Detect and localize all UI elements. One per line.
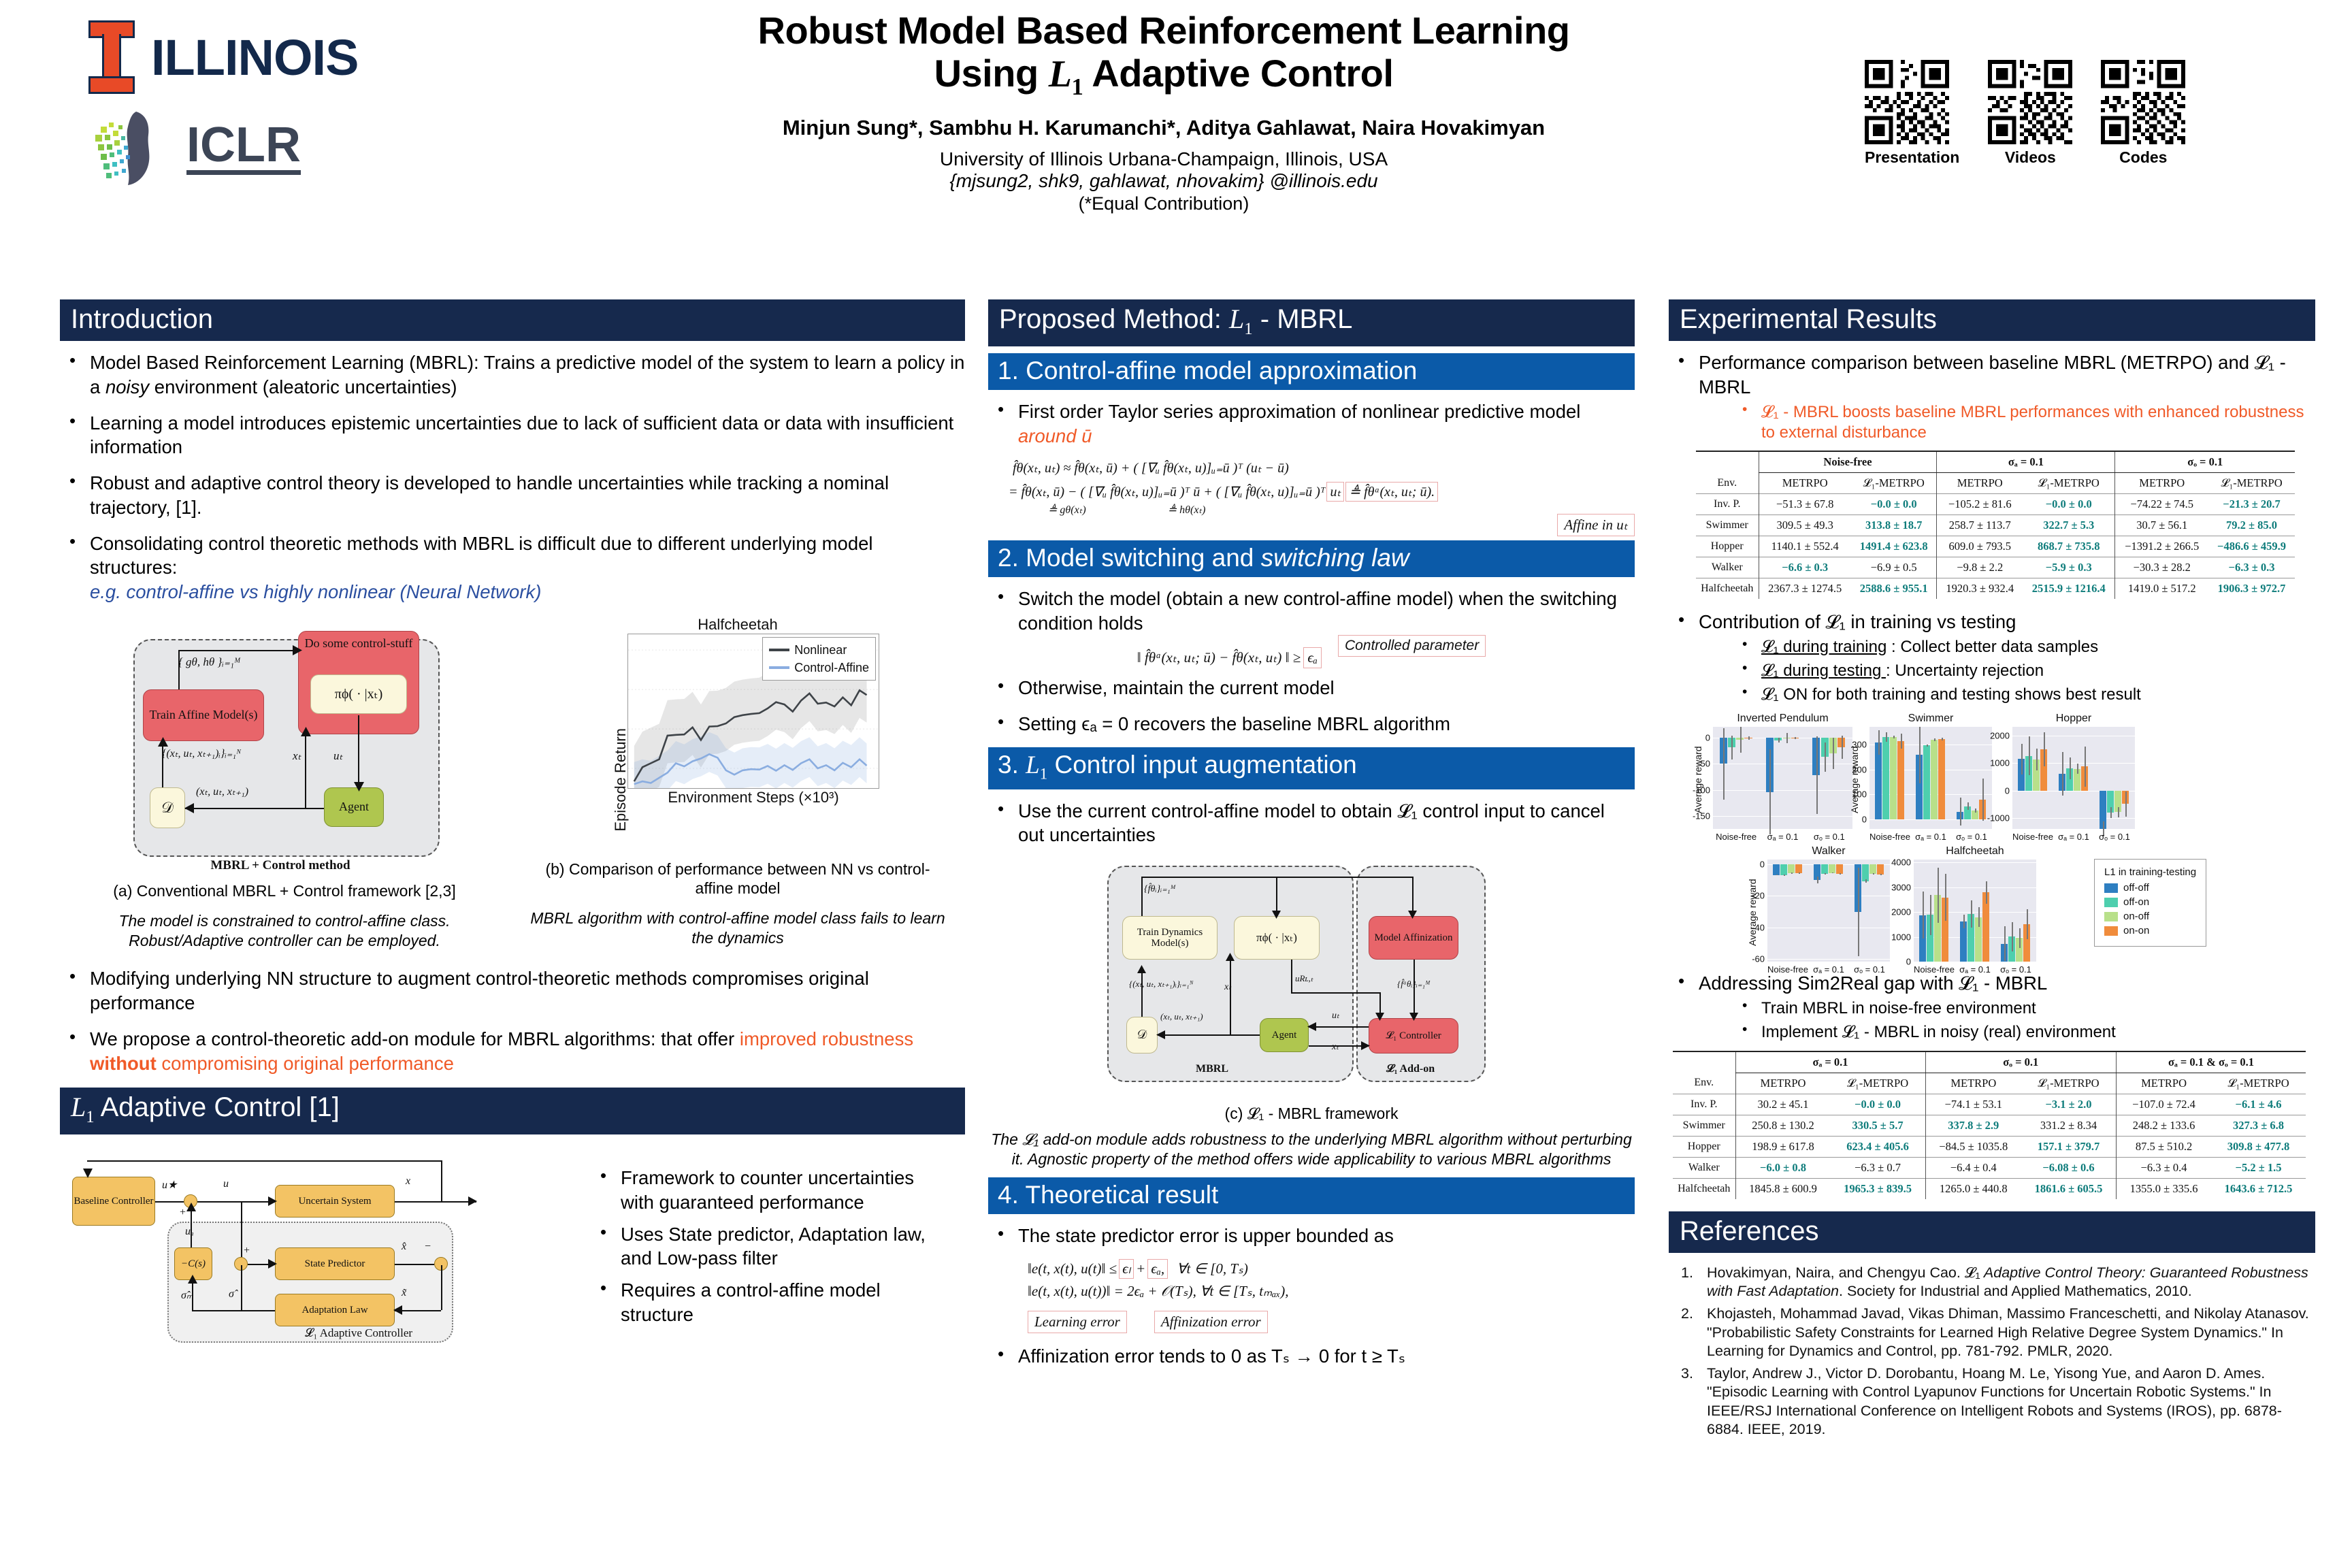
legend-swatch xyxy=(2104,926,2118,936)
table-cell: 309.8 ± 477.8 xyxy=(2211,1136,2306,1157)
l1ac-bullet-1: Framework to counter uncertainties with … xyxy=(591,1166,945,1215)
illinois-wordmark: ILLINOIS xyxy=(151,29,358,86)
results-bullet-3-subs: Train MBRL in noise-free environment Imp… xyxy=(1734,998,2315,1043)
table-cell: −107.0 ± 72.4 xyxy=(2117,1094,2212,1115)
error-bar xyxy=(1865,879,1867,883)
node-train-dynamics-model: Train Dynamics Model(s) xyxy=(1122,916,1218,960)
error-bar xyxy=(2118,807,2119,817)
results-table-1: Noise-free σₐ = 0.1 σₒ = 0.1 Env. METRPO… xyxy=(1696,451,2295,599)
label-mbrl-control-frame: MBRL + Control method xyxy=(178,858,382,873)
table-cell: 1419.0 ± 517.2 xyxy=(2115,578,2208,599)
error-bar xyxy=(2036,749,2038,770)
bar xyxy=(1890,737,1897,819)
intro-bullet-list: Model Based Reinforcement Learning (MBRL… xyxy=(60,350,965,604)
underbrace-h-theta: ≜ hθ(xₜ) xyxy=(1168,503,1206,517)
legend-item-on-on: on-on xyxy=(2104,925,2196,936)
section-header-proposed-method: Proposed Method: L1 - MBRL xyxy=(988,299,1635,346)
method-s3-bullets: Use the current control-affine model to … xyxy=(988,799,1635,848)
figure-b-container: Halfcheetah Nonlinear Control-Affine 010… xyxy=(527,616,949,951)
figure-a-note: The model is constrained to control-affi… xyxy=(60,911,509,951)
label-l1-controller-frame: 𝓛₁ Adaptive Controller xyxy=(305,1326,412,1340)
error-bar xyxy=(2027,909,2028,939)
error-bar xyxy=(1825,873,1826,874)
bar xyxy=(1836,864,1843,874)
results-bullet-2-sub-3: 𝓛₁ ON for both training and testing show… xyxy=(1734,685,2315,705)
figure-b-caption: (b) Comparison of performance between NN… xyxy=(527,860,949,898)
label-plus-1: + xyxy=(180,1207,186,1219)
results-bullet-2-sub-1: 𝓛₁ during training : Collect better data… xyxy=(1734,637,2315,657)
table-cell: 1920.3 ± 932.4 xyxy=(1937,578,2023,599)
error-bar xyxy=(1986,881,1987,904)
method-s3-bullet-1: Use the current control-affine model to … xyxy=(988,799,1635,848)
table-cell: −6.4 ± 0.4 xyxy=(1925,1157,2021,1178)
qr-item-videos[interactable]: Videos xyxy=(1988,60,2072,167)
bar-chart-walker: Walker0-20-40-60Noise-freeσₐ = 0.1σₒ = 0… xyxy=(1767,845,1890,962)
qr-label-videos: Videos xyxy=(1988,148,2072,167)
method-s1-bullet-1: First order Taylor series approximation … xyxy=(988,399,1635,448)
table-cell: −486.6 ± 459.9 xyxy=(2208,536,2295,557)
results-bullet-2: Contribution of 𝓛₁ in training vs testin… xyxy=(1669,610,2315,705)
table2-subheader-row: Env. METRPO 𝓛₁-METRPO METRPO 𝓛₁-METRPO M… xyxy=(1673,1073,2306,1094)
qr-code-group: Presentation xyxy=(1865,60,2185,167)
bar-y-tick: 2000 xyxy=(1891,907,1911,917)
equation-switching-law: ‖ f̂θᵃ(xₜ, uₜ; ū) − f̂θ(xₜ, uₜ) ‖ ≥ xyxy=(1137,649,1301,666)
table-cell-env: Hopper xyxy=(1696,536,1759,557)
callout-learning-error: Learning error xyxy=(1028,1311,1127,1333)
method-s4-callouts: Learning error Affinization error xyxy=(1028,1311,1635,1333)
table-cell: −74.22 ± 74.5 xyxy=(2115,493,2208,514)
iclr-wordmark: ICLR xyxy=(186,122,301,175)
table-cell: 1906.3 ± 972.7 xyxy=(2208,578,2295,599)
label-xt2-c: xₜ xyxy=(1332,1041,1339,1053)
table-cell: 198.9 ± 617.8 xyxy=(1735,1136,1831,1157)
bar xyxy=(1877,864,1884,875)
method-s2-bullets-cont: Otherwise, maintain the current model Se… xyxy=(988,676,1635,736)
table-cell: −3.1 ± 2.0 xyxy=(2021,1094,2117,1115)
table-cell: −6.3 ± 0.4 xyxy=(2117,1157,2212,1178)
bar-x-tick: σₒ = 0.1 xyxy=(2099,832,2130,842)
poster-title-line2: Using L1 Adaptive Control xyxy=(558,52,1769,101)
diagram-l1-mbrl-framework: Train Dynamics Model(s) πϕ( · |xₜ) Model… xyxy=(1100,859,1522,1104)
table-cell: −0.0 ± 0.0 xyxy=(1831,1094,1926,1115)
error-bar xyxy=(1971,900,1972,928)
node-uncertain-system: Uncertain System xyxy=(275,1185,395,1218)
bar-chart-plot: 200010000-1000Noise-freeσₐ = 0.1σₒ = 0.1 xyxy=(2012,727,2135,829)
error-bar xyxy=(1723,728,1725,800)
poster-title-line1: Robust Model Based Reinforcement Learnin… xyxy=(558,10,1769,52)
underbrace-g-theta: ≜ gθ(xₜ) xyxy=(1048,503,1086,517)
figure-a-container: Train Affine Model(s) Do some control-st… xyxy=(60,616,509,951)
legend-title: L1 in training-testing xyxy=(2104,866,2196,878)
method-s4-bullets: The state predictor error is upper bound… xyxy=(988,1224,1635,1248)
table-cell: 609.0 ± 793.5 xyxy=(1937,536,2023,557)
table-cell: −6.08 ± 0.6 xyxy=(2021,1157,2117,1178)
results-bullet-1-sub-1: 𝓛₁ - MBRL boosts baseline MBRL performan… xyxy=(1734,402,2315,443)
subsection-header-2: 2. Model switching and switching law xyxy=(988,540,1635,577)
intro-after-bullet-1: Modifying underlying NN structure to aug… xyxy=(60,966,965,1015)
label-dataset-batch: {(xₜ, uₜ, xₜ₊₁)ᵢ}ᵢ₌₁ᴺ xyxy=(162,747,241,760)
diagram-l1-adaptive-controller: Baseline Controller Uncertain System Sta… xyxy=(60,1145,584,1350)
error-bar xyxy=(2070,757,2071,779)
error-bar xyxy=(1784,875,1785,876)
table-cell: 157.1 ± 379.7 xyxy=(2021,1136,2117,1157)
callout-affine-in-ut-wrap: Affine in uₜ xyxy=(1009,514,1635,536)
bar xyxy=(1829,864,1835,872)
figure-b-note: MBRL algorithm with control-affine model… xyxy=(527,909,949,948)
results-bullet-1-subs: 𝓛₁ - MBRL boosts baseline MBRL performan… xyxy=(1734,402,2315,443)
section-header-l1-adaptive-control: L1 Adaptive Control [1] xyxy=(60,1088,965,1134)
method-s2-bullet-3: Setting ϵₐ = 0 recovers the baseline MBR… xyxy=(988,712,1635,736)
table-cell: 1845.8 ± 600.9 xyxy=(1735,1178,1831,1199)
table-cell: −30.3 ± 28.2 xyxy=(2115,557,2208,578)
method-s2-bullet-1: Switch the model (obtain a new control-a… xyxy=(988,587,1635,636)
table-cell: −6.3 ± 0.3 xyxy=(2208,557,2295,578)
node-policy-pi: πϕ( · |xₜ) xyxy=(310,674,407,714)
table-cell: 331.2 ± 8.34 xyxy=(2021,1115,2117,1136)
results-bullet-3-list: Addressing Sim2Real gap with 𝓛₁ - MBRL T… xyxy=(1669,971,2315,1043)
error-bar xyxy=(2077,764,2078,774)
error-bar xyxy=(1938,868,1939,922)
results-table-2: σₐ = 0.1 σₒ = 0.1 σₐ = 0.1 & σₒ = 0.1 En… xyxy=(1673,1051,2306,1199)
subsection-header-1: 1. Control-affine model approximation xyxy=(988,353,1635,390)
table-cell: −0.0 ± 0.0 xyxy=(1851,493,1937,514)
table-cell-env: Halfcheetah xyxy=(1696,578,1759,599)
label-addon-frame: 𝓛₁ Add-on xyxy=(1386,1063,1435,1075)
method-s4-bullet-1: The state predictor error is upper bound… xyxy=(988,1224,1635,1248)
column-left: Introduction Model Based Reinforcement L… xyxy=(60,299,965,1350)
table-cell: 30.7 ± 56.1 xyxy=(2115,514,2208,536)
table-cell: −6.3 ± 0.7 xyxy=(1831,1157,1926,1178)
results-bullet-2-sub-2: 𝓛₁ during testing : Uncertainty rejectio… xyxy=(1734,661,2315,681)
bar xyxy=(1869,864,1876,874)
iclr-logo: ICLR xyxy=(88,109,538,188)
qr-label-presentation: Presentation xyxy=(1865,148,1959,167)
bar-y-tick: 0 xyxy=(1862,814,1867,824)
qr-code-icon[interactable] xyxy=(2101,60,2185,144)
table-cell: 309.5 ± 49.3 xyxy=(1759,514,1851,536)
table-cell-env: Halfcheetah xyxy=(1673,1178,1735,1199)
table-cell-env: Walker xyxy=(1696,557,1759,578)
label-ua: uₐ xyxy=(185,1226,194,1238)
bar-y-tick: 0 xyxy=(1760,860,1765,870)
node-agent-c: Agent xyxy=(1260,1018,1309,1052)
error-bar xyxy=(1927,745,1928,747)
qr-item-codes[interactable]: Codes xyxy=(2101,60,2185,167)
l1ac-bullet-3: Requires a control-affine model structur… xyxy=(591,1278,945,1327)
chart-legend: Nonlinear Control-Affine xyxy=(762,637,876,681)
results-bullet-3-sub-2: Implement 𝓛₁ - MBRL in noisy (real) envi… xyxy=(1734,1022,2315,1043)
bar-chart-plot: 40003000200010000Noise-freeσₐ = 0.1σₒ = … xyxy=(1914,860,2036,962)
l1ac-bullet-list: Framework to counter uncertainties with … xyxy=(591,1166,945,1350)
error-bar xyxy=(1934,738,1935,741)
bar xyxy=(1773,864,1780,875)
bar-y-tick: 4000 xyxy=(1891,857,1911,868)
method-s1-equations: f̂θ(xₜ, uₜ) ≈ f̂θ(xₜ, ū) + ( [∇ᵤ f̂θ(xₜ,… xyxy=(1009,459,1635,536)
table-cell-env: Inv. P. xyxy=(1673,1094,1735,1115)
error-bar xyxy=(1778,738,1780,743)
table-cell-env: Hopper xyxy=(1673,1136,1735,1157)
results-bullet-list: Performance comparison between baseline … xyxy=(1669,350,2315,443)
table-cell: 623.4 ± 405.6 xyxy=(1831,1136,1926,1157)
results-bar-chart-grid: Inverted Pendulum0-50-100-150Noise-freeσ… xyxy=(1686,713,2298,964)
table-cell: 1140.1 ± 552.4 xyxy=(1759,536,1851,557)
callout-affine-in-ut: Affine in uₜ xyxy=(1557,514,1635,536)
results-bullet-3-sub-1: Train MBRL in noise-free environment xyxy=(1734,998,2315,1019)
intro-bullet-2: Learning a model introduces epistemic un… xyxy=(60,411,965,460)
chart-halfcheetah-learning-curve: Halfcheetah Nonlinear Control-Affine 010… xyxy=(568,616,908,840)
label-url-t: uRʟ,ₜ xyxy=(1295,973,1313,984)
node-adaptation-law: Adaptation Law xyxy=(275,1294,395,1326)
email-line: {mjsung2, shk9, gahlawat, nhovakim} @ill… xyxy=(558,170,1769,192)
bar-x-tick: σₒ = 0.1 xyxy=(1956,832,1987,842)
table-cell: −0.0 ± 0.0 xyxy=(2023,493,2115,514)
chart-y-axis-label: Episode Return xyxy=(612,728,630,832)
error-bar xyxy=(2110,807,2112,818)
node-state-predictor: State Predictor xyxy=(275,1247,395,1280)
equation-epsilon-a-box: ϵₐ xyxy=(1303,647,1322,668)
error-bar xyxy=(2062,752,2063,796)
bar xyxy=(1923,745,1930,819)
reference-item-1: Hovakimyan, Naira, and Chengyu Cao. 𝓛₁ A… xyxy=(1669,1264,2315,1301)
table2-group-header-row: σₐ = 0.1 σₒ = 0.1 σₐ = 0.1 & σₒ = 0.1 xyxy=(1673,1051,2306,1073)
table-row: Halfcheetah2367.3 ± 1274.52588.6 ± 955.1… xyxy=(1696,578,2295,599)
table-cell: 248.2 ± 133.6 xyxy=(2117,1115,2212,1136)
results-bullet-1: Performance comparison between baseline … xyxy=(1669,350,2315,443)
bar xyxy=(1931,740,1938,819)
error-bar xyxy=(2019,928,2021,948)
error-bar xyxy=(2012,922,2013,952)
figure-c-caption: (c) 𝓛₁ - MBRL framework xyxy=(988,1104,1635,1123)
error-bar xyxy=(1930,895,1931,935)
error-bar xyxy=(1901,734,1902,749)
bar-chart-hopper: Hopper200010000-1000Noise-freeσₐ = 0.1σₒ… xyxy=(2012,713,2135,829)
table-cell: 250.8 ± 130.2 xyxy=(1735,1115,1831,1136)
reference-item-2: Khojasteh, Mohammad Javad, Vikas Dhiman,… xyxy=(1669,1305,2315,1360)
chart-x-axis-label: Environment Steps (×10³) xyxy=(668,789,838,806)
legend-item-off-off: off-off xyxy=(2104,882,2196,894)
error-bar xyxy=(1825,742,1826,772)
bar-x-tick: Noise-free xyxy=(1716,832,1757,842)
table-cell: 1491.4 ± 623.8 xyxy=(1851,536,1937,557)
bar-chart-title: Swimmer xyxy=(1869,713,1992,725)
reference-item-3: Taylor, Andrew J., Victor D. Dorobantu, … xyxy=(1669,1365,2315,1439)
table-cell: −5.2 ± 1.5 xyxy=(2211,1157,2306,1178)
label-ut: uₜ xyxy=(333,749,343,763)
bar-chart-inverted-pendulum: Inverted Pendulum0-50-100-150Noise-freeσ… xyxy=(1713,713,1852,829)
illinois-logo: ILLINOIS xyxy=(88,20,538,94)
legend-label: on-on xyxy=(2123,925,2149,936)
node-agent: Agent xyxy=(324,787,384,827)
equation-bound-2: ‖e(t, x(t), u(t))‖ = 2ϵₐ + 𝒪(Tₛ), ∀t ∈ [… xyxy=(1028,1283,1635,1300)
chart-title: Halfcheetah xyxy=(568,616,908,634)
table-row: Walker−6.0 ± 0.8−6.3 ± 0.7−6.4 ± 0.4−6.0… xyxy=(1673,1157,2306,1178)
bar-y-tick: 1000 xyxy=(1891,932,1911,942)
error-bar xyxy=(1816,736,1818,814)
title-block: Robust Model Based Reinforcement Learnin… xyxy=(558,10,1769,214)
bar-y-tick: 0 xyxy=(1906,957,1911,967)
error-bar xyxy=(1880,874,1882,875)
error-bar xyxy=(2044,732,2045,767)
bar-y-tick: -60 xyxy=(1752,953,1765,964)
method-s2-bullets: Switch the model (obtain a new control-a… xyxy=(988,587,1635,636)
subsection-header-4: 4. Theoretical result xyxy=(988,1177,1635,1214)
bar-chart-plot: 0-50-100-150Noise-freeσₐ = 0.1σₒ = 0.1 xyxy=(1713,727,1852,829)
error-bar xyxy=(1840,873,1841,874)
bar-x-tick: σₐ = 0.1 xyxy=(2058,832,2089,842)
table-cell-env: Swimmer xyxy=(1673,1115,1735,1136)
table-cell: 2367.3 ± 1274.5 xyxy=(1759,578,1851,599)
label-transition-c: (xₜ, uₜ, xₜ₊₁) xyxy=(1160,1011,1203,1022)
legend-swatch xyxy=(2104,912,2118,921)
error-bar xyxy=(1978,907,1980,927)
bar-x-tick: σₐ = 0.1 xyxy=(1915,832,1946,842)
qr-item-presentation[interactable]: Presentation xyxy=(1865,60,1959,167)
logo-block: ILLINOIS xyxy=(88,20,538,188)
error-bar xyxy=(1967,802,1969,810)
error-bar xyxy=(1833,738,1834,769)
table-cell: 322.7 ± 5.3 xyxy=(2023,514,2115,536)
error-bar xyxy=(1960,798,1961,826)
method-s4-bullets-2: Affinization error tends to 0 as Tₛ → 0 … xyxy=(988,1344,1635,1369)
error-bar xyxy=(1873,873,1874,875)
table-cell: −6.6 ± 0.3 xyxy=(1759,557,1851,578)
bar xyxy=(1862,864,1869,881)
bar-y-tick: 0 xyxy=(2005,785,2010,796)
table-row: Walker−6.6 ± 0.3−6.9 ± 0.5−9.8 ± 2.2−5.9… xyxy=(1696,557,2295,578)
table-cell-env: Walker xyxy=(1673,1157,1735,1178)
error-bar xyxy=(1748,736,1750,740)
node-baseline-controller: Baseline Controller xyxy=(72,1177,155,1226)
error-bar xyxy=(1942,738,1943,740)
table-cell: 327.3 ± 6.8 xyxy=(2211,1115,2306,1136)
callout-controlled-parameter: Controlled parameter xyxy=(1338,635,1486,657)
intro-bullet-4: Consolidating control theoretic methods … xyxy=(60,532,965,604)
table-cell: −84.5 ± 1035.8 xyxy=(1925,1136,2021,1157)
table-cell: −5.9 ± 0.3 xyxy=(2023,557,2115,578)
method-s4-equations: ‖e(t, x(t), u(t)‖ ≤ ϵₗ + ϵₐ, ∀t ∈ [0, Tₛ… xyxy=(1028,1259,1635,1333)
error-bar xyxy=(1886,732,1887,741)
bar-y-axis-label: Average reward xyxy=(1693,746,1703,813)
table-row: Swimmer309.5 ± 49.3313.8 ± 18.7258.7 ± 1… xyxy=(1696,514,2295,536)
table-row: Hopper198.9 ± 617.8623.4 ± 405.6−84.5 ± … xyxy=(1673,1136,2306,1157)
bar xyxy=(1938,739,1945,819)
error-bar xyxy=(1799,872,1800,874)
callout-affinization-error: Affinization error xyxy=(1154,1311,1268,1333)
table-cell: −105.2 ± 81.6 xyxy=(1937,493,2023,514)
diagram-conventional-mbrl: Train Affine Model(s) Do some control-st… xyxy=(94,616,475,881)
illinois-block-i-icon xyxy=(88,20,135,94)
table-row: Inv. P.30.2 ± 45.1−0.0 ± 0.0−74.1 ± 53.1… xyxy=(1673,1094,2306,1115)
legend-label: on-off xyxy=(2123,911,2149,922)
section-header-references: References xyxy=(1669,1211,2315,1253)
error-bar xyxy=(1963,915,1965,928)
node-l1-controller: 𝓛₁ Controller xyxy=(1369,1018,1458,1053)
table-cell-env: Inv. P. xyxy=(1696,493,1759,514)
author-list: Minjun Sung*, Sambhu H. Karumanchi*, Adi… xyxy=(558,116,1769,140)
method-s1-bullets: First order Taylor series approximation … xyxy=(988,399,1635,448)
error-bar xyxy=(1923,892,1924,939)
method-s2-bullet-2: Otherwise, maintain the current model xyxy=(988,676,1635,700)
affiliation: University of Illinois Urbana-Champaign,… xyxy=(558,148,1769,170)
error-bar xyxy=(1795,737,1796,739)
legend-item-control-affine: Control-Affine xyxy=(769,659,869,676)
bar-y-tick: 0 xyxy=(1705,732,1710,742)
error-bar xyxy=(1893,736,1895,738)
bar xyxy=(1897,741,1904,819)
error-bar xyxy=(2029,736,2030,775)
intro-after-bullet-2: We propose a control-theoretic add-on mo… xyxy=(60,1027,965,1076)
qr-code-icon[interactable] xyxy=(1988,60,2072,144)
table-row: Swimmer250.8 ± 130.2330.5 ± 5.7337.8 ± 2… xyxy=(1673,1115,2306,1136)
error-bar xyxy=(1740,727,1742,753)
error-bar xyxy=(1975,808,1976,813)
table-cell: 1965.3 ± 839.5 xyxy=(1831,1178,1926,1199)
label-x-hat: x̂ xyxy=(402,1241,406,1253)
label-batch-c: {(xₜ, uₜ, xₜ₊₁)ᵢ}ᵢ₌₁ᴺ xyxy=(1129,979,1193,990)
bar-x-tick: σₒ = 0.1 xyxy=(1814,832,1845,842)
table-cell: 79.2 ± 85.0 xyxy=(2208,514,2295,536)
error-bar xyxy=(1776,875,1778,875)
section-header-experimental-results: Experimental Results xyxy=(1669,299,2315,341)
bar-x-tick: Noise-free xyxy=(2012,832,2053,842)
node-policy: πϕ( · |xₜ) xyxy=(1234,916,1320,960)
bar-x-tick: σₐ = 0.1 xyxy=(1767,832,1799,842)
l1ac-row: Baseline Controller Uncertain System Sta… xyxy=(60,1145,965,1350)
results-bullet-2-list: Contribution of 𝓛₁ in training vs testin… xyxy=(1669,610,2315,705)
equation-taylor-line1: f̂θ(xₜ, uₜ) ≈ f̂θ(xₜ, ū) + ( [∇ᵤ f̂θ(xₜ,… xyxy=(1013,459,1635,476)
label-u-star: u★ xyxy=(162,1178,177,1192)
iclr-brain-icon xyxy=(88,109,169,188)
table1-subheader-row: Env. METRPO 𝓛₁-METRPO METRPO 𝓛₁-METRPO M… xyxy=(1696,472,2295,493)
table-cell: 2515.9 ± 1216.4 xyxy=(2023,578,2115,599)
bar-chart-title: Hopper xyxy=(2012,713,2135,725)
error-bar xyxy=(1878,730,1880,755)
legend-label: off-off xyxy=(2123,882,2149,894)
intro-figures-row: Train Affine Model(s) Do some control-st… xyxy=(60,616,965,951)
table-cell: −6.1 ± 4.6 xyxy=(2211,1094,2306,1115)
error-bar xyxy=(1731,736,1733,759)
table-cell: 1643.6 ± 712.5 xyxy=(2211,1178,2306,1199)
table-cell: 313.8 ± 18.7 xyxy=(1851,514,1937,536)
label-x: x xyxy=(406,1175,410,1188)
column-middle: Proposed Method: L1 - MBRL 1. Control-af… xyxy=(988,299,1635,1380)
legend-item-off-on: off-on xyxy=(2104,896,2196,908)
label-ut-c: uₜ xyxy=(1332,1010,1339,1022)
label-x-tilde: x̃ xyxy=(402,1287,406,1299)
method-s2-equation-row: ‖ f̂θᵃ(xₜ, uₜ; ū) − f̂θ(xₜ, uₜ) ‖ ≥ ϵₐ C… xyxy=(988,647,1635,669)
label-sigma-hat: σ̂ xyxy=(229,1288,234,1301)
label-models-c: {f̂θᵢ}ᵢ₌₁ᴹ xyxy=(1144,883,1176,895)
error-bar xyxy=(1919,727,1921,783)
poster-header: ILLINOIS xyxy=(0,0,2352,286)
error-bar xyxy=(1858,868,1859,956)
error-bar xyxy=(1786,733,1788,743)
bar xyxy=(1821,864,1828,874)
table-cell: 330.5 ± 5.7 xyxy=(1831,1115,1926,1136)
error-bar xyxy=(2085,747,2086,787)
table1-group-header-row: Noise-free σₐ = 0.1 σₒ = 0.1 xyxy=(1696,451,2295,473)
reference-list: Hovakimyan, Naira, and Chengyu Cao. 𝓛₁ A… xyxy=(1669,1264,2315,1439)
table-cell: 1861.6 ± 605.5 xyxy=(2021,1178,2117,1199)
node-train-affine-model: Train Affine Model(s) xyxy=(143,689,264,741)
label-plus-2: + xyxy=(244,1245,250,1257)
figure-a-caption: (a) Conventional MBRL + Control framewor… xyxy=(60,881,509,900)
bar-chart-plot: 0-20-40-60Noise-freeσₐ = 0.1σₒ = 0.1 xyxy=(1767,860,1890,962)
legend-item-on-off: on-off xyxy=(2104,911,2196,922)
qr-code-icon[interactable] xyxy=(1865,60,1949,144)
error-bar xyxy=(1842,736,1843,759)
section-header-introduction: Introduction xyxy=(60,299,965,341)
